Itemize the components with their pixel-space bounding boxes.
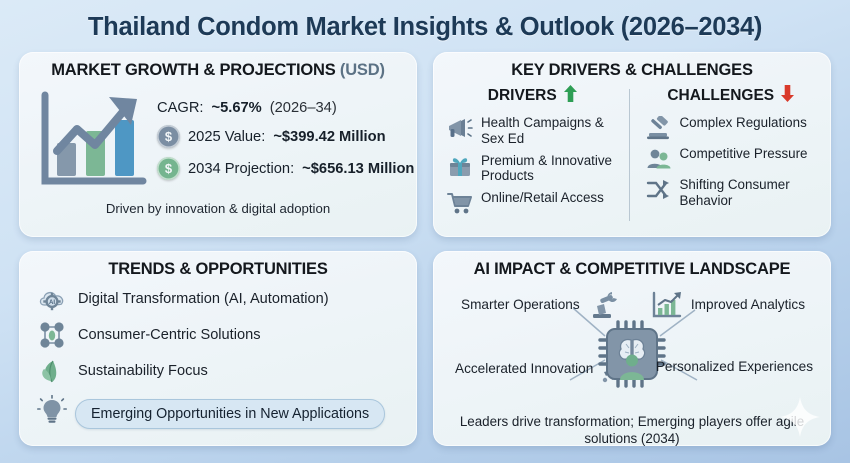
drivers-heading-label: DRIVERS: [488, 87, 557, 105]
dollar-coin-gray-icon: $: [157, 125, 180, 148]
challenges-heading: CHALLENGES: [646, 85, 818, 107]
shuffle-arrows-icon: [646, 178, 672, 202]
shopping-cart-icon: [447, 191, 473, 215]
card-market-growth: MARKET GROWTH & PROJECTIONS (USD): [19, 52, 417, 237]
drivers-heading: DRIVERS: [447, 85, 619, 107]
ai-diagram: Smarter Operations Accelerated Innovatio…: [445, 284, 819, 412]
challenge-item-label: Complex Regulations: [680, 115, 807, 131]
emerging-opportunities-row: Emerging Opportunities in New Applicatio…: [37, 395, 405, 432]
trend-item-label: Digital Transformation (AI, Automation): [78, 291, 329, 307]
value-2025-amount: ~$399.42 Million: [273, 129, 385, 145]
ai-node-improved-analytics: Improved Analytics: [650, 290, 805, 320]
page-title: Thailand Condom Market Insights & Outloo…: [18, 0, 832, 52]
challenge-item: Complex Regulations: [646, 115, 818, 140]
cagr-period: (2026–34): [270, 100, 337, 116]
svg-text:AI: AI: [49, 300, 55, 306]
card-title-market-growth: MARKET GROWTH & PROJECTIONS (USD): [31, 61, 405, 80]
trend-item-label: Consumer-Centric Solutions: [78, 327, 261, 343]
trend-item: Sustainability Focus: [37, 356, 405, 386]
megaphone-icon: [447, 116, 473, 140]
cagr-value: ~5.67%: [212, 100, 262, 116]
drivers-column: DRIVERS: [445, 85, 629, 231]
value-2034-amount: ~$656.13 Million: [302, 161, 414, 177]
person-icon: [615, 352, 649, 382]
ai-node-label: Personalized Experiences: [656, 359, 813, 375]
emerging-opportunities-callout[interactable]: Emerging Opportunities in New Applicatio…: [75, 399, 385, 429]
driver-item-label: Health Campaigns & Sex Ed: [481, 115, 619, 147]
challenge-item-label: Shifting Consumer Behavior: [680, 177, 818, 209]
driver-item: Health Campaigns & Sex Ed: [447, 115, 619, 147]
ai-footer: Leaders drive transformation; Emerging p…: [445, 414, 819, 446]
trend-item-label: Sustainability Focus: [78, 363, 208, 379]
challenges-column: CHALLENGES: [630, 85, 820, 231]
growth-values: CAGR: ~5.67% (2026–34) $ 2025 Value: ~$3…: [157, 98, 414, 180]
driver-item-label: Online/Retail Access: [481, 190, 604, 206]
card-title-usd: (USD): [340, 61, 385, 79]
driver-item: Premium & Innovative Products: [447, 153, 619, 185]
ai-node-label: Improved Analytics: [691, 297, 805, 313]
arrow-up-icon: [563, 85, 578, 107]
gift-icon: [447, 154, 473, 178]
value-row-2025: $ 2025 Value: ~$399.42 Million: [157, 125, 414, 148]
gavel-icon: [646, 116, 672, 140]
cagr-line: CAGR: ~5.67% (2026–34): [157, 100, 414, 116]
growth-footer: Driven by innovation & digital adoption: [31, 201, 405, 216]
ai-node-personalized-experiences: Personalized Experiences: [615, 352, 813, 382]
infographic-page: Thailand Condom Market Insights & Outloo…: [0, 0, 850, 463]
driver-item: Online/Retail Access: [447, 190, 619, 215]
card-key-drivers-challenges: KEY DRIVERS & CHALLENGES DRIVERS: [433, 52, 831, 237]
cagr-label: CAGR:: [157, 100, 204, 116]
trend-item: AI Digital Transformation (AI, Automatio…: [37, 284, 405, 314]
card-title-ai-impact: AI IMPACT & COMPETITIVE LANDSCAPE: [445, 260, 819, 279]
analytics-chart-icon: [650, 290, 684, 320]
challenge-item: Competitive Pressure: [646, 146, 818, 171]
driver-item-label: Premium & Innovative Products: [481, 153, 619, 185]
dollar-coin-green-icon: $: [157, 157, 180, 180]
value-row-2034: $ 2034 Projection: ~$656.13 Million: [157, 157, 414, 180]
ai-node-smarter-operations: Smarter Operations: [461, 290, 621, 320]
cards-grid: MARKET GROWTH & PROJECTIONS (USD): [18, 52, 832, 446]
lightbulb-icon: [37, 395, 67, 432]
card-ai-impact: AI IMPACT & COMPETITIVE LANDSCAPE Smarte…: [433, 251, 831, 446]
ai-node-label: Smarter Operations: [461, 297, 580, 313]
drivers-challenges-wrap: DRIVERS: [445, 85, 819, 231]
ai-node-label: Accelerated Innovation: [455, 361, 593, 377]
arrow-down-icon: [780, 85, 795, 107]
leaf-icon: [37, 356, 67, 386]
trend-item: Consumer-Centric Solutions: [37, 320, 405, 350]
card-title-trends: TRENDS & OPPORTUNITIES: [31, 260, 405, 279]
growth-body: CAGR: ~5.67% (2026–34) $ 2025 Value: ~$3…: [31, 85, 405, 191]
card-title-text: MARKET GROWTH & PROJECTIONS: [51, 61, 340, 79]
card-trends-opportunities: TRENDS & OPPORTUNITIES AI Digital Tra: [19, 251, 417, 446]
bar-chart-growth-icon: [35, 87, 153, 191]
challenge-item: Shifting Consumer Behavior: [646, 177, 818, 209]
value-2025-label: 2025 Value:: [188, 129, 265, 145]
challenge-item-label: Competitive Pressure: [680, 146, 808, 162]
card-title-drivers: KEY DRIVERS & CHALLENGES: [445, 61, 819, 80]
two-people-icon: [646, 147, 672, 171]
value-2034-label: 2034 Projection:: [188, 161, 294, 177]
cloud-ai-gear-icon: AI: [37, 284, 67, 314]
challenges-heading-label: CHALLENGES: [667, 87, 774, 105]
people-network-icon: [37, 320, 67, 350]
robotic-arm-icon: [587, 290, 621, 320]
